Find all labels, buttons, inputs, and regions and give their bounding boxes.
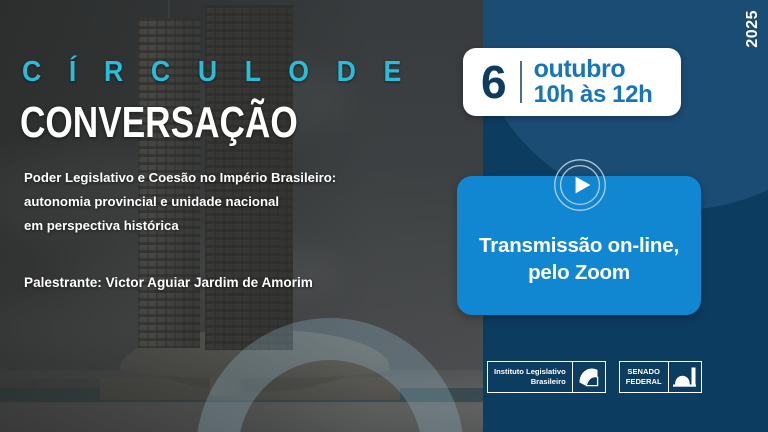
headline-kicker: C Í R C U L O D E bbox=[22, 56, 411, 89]
senado-logo-text: SENADO FEDERAL bbox=[620, 367, 668, 387]
logo-row: Instituto Legislativo Brasileiro SENADO … bbox=[487, 361, 702, 393]
logo-senado-federal: SENADO FEDERAL bbox=[619, 361, 702, 393]
date-time: 10h às 12h bbox=[534, 83, 653, 107]
senado-line-1: SENADO bbox=[627, 367, 660, 376]
date-month: outubro bbox=[534, 57, 653, 83]
ilb-dome-icon bbox=[572, 362, 605, 392]
ilb-line-1: Instituto Legislativo bbox=[494, 367, 566, 376]
event-subtitle: Poder Legislativo e Coesão no Império Br… bbox=[24, 166, 454, 238]
date-badge: 6 outubro 10h às 12h bbox=[463, 48, 681, 116]
subtitle-line: em perspectiva histórica bbox=[24, 214, 454, 238]
play-circle-icon bbox=[553, 158, 607, 212]
logo-instituto-legislativo-brasileiro: Instituto Legislativo Brasileiro bbox=[487, 361, 606, 393]
ilb-logo-text: Instituto Legislativo Brasileiro bbox=[488, 367, 572, 387]
date-text-group: outubro 10h às 12h bbox=[534, 57, 653, 108]
date-day: 6 bbox=[463, 59, 520, 105]
broadcast-text: Transmissão on-line, pelo Zoom bbox=[479, 232, 679, 286]
year-label: 2025 bbox=[744, 10, 762, 48]
ilb-line-2: Brasileiro bbox=[531, 377, 566, 386]
broadcast-line-1: Transmissão on-line, bbox=[479, 234, 679, 257]
date-divider bbox=[520, 61, 522, 103]
senado-dome-tower-icon bbox=[668, 362, 701, 392]
senado-line-2: FEDERAL bbox=[626, 377, 662, 386]
speaker-name: Palestrante: Victor Aguiar Jardim de Amo… bbox=[24, 275, 313, 290]
subtitle-line: Poder Legislativo e Coesão no Império Br… bbox=[24, 166, 454, 190]
event-poster: 2025 C Í R C U L O D E CONVERSAÇÃO Poder… bbox=[0, 0, 768, 432]
broadcast-line-2: pelo Zoom bbox=[528, 261, 630, 284]
subtitle-line: autonomia provincial e unidade nacional bbox=[24, 190, 454, 214]
page-title: CONVERSAÇÃO bbox=[20, 98, 298, 148]
